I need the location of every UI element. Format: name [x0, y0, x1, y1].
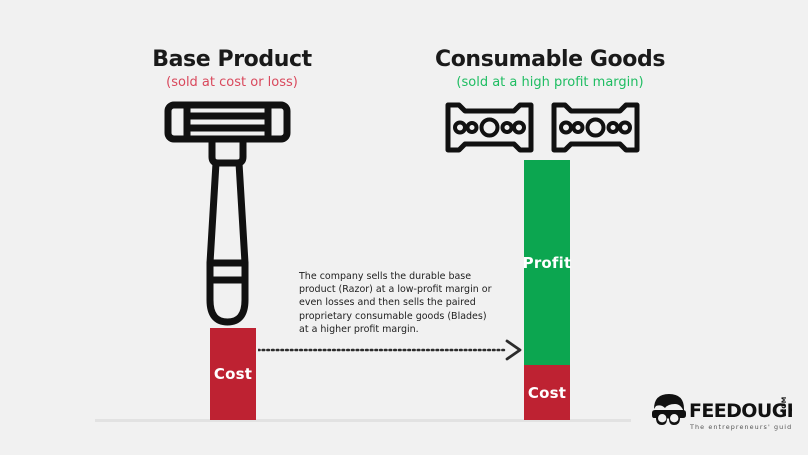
bar-label-cost: Cost: [214, 365, 252, 383]
left-column-header: Base Product (sold at cost or loss): [72, 47, 392, 92]
bar-consumable-profit: Profit: [524, 160, 570, 365]
bar-consumable-cost: Cost: [524, 365, 570, 420]
razor-blade-icon: [448, 105, 531, 150]
right-column-subtitle: (sold at a high profit margin): [390, 74, 710, 92]
feedough-logo[interactable]: FEEDOUGH .COM The entrepreneurs' guide: [650, 391, 792, 435]
bar-base-product-cost: Cost: [210, 328, 256, 420]
left-column-title: Base Product: [72, 47, 392, 73]
razor-blade-icon: [554, 105, 637, 150]
razor-blade-icon-group: [445, 100, 640, 155]
bar-label-profit: Profit: [523, 254, 572, 272]
bar-label-cost: Cost: [528, 384, 566, 402]
safety-razor-icon: [160, 100, 295, 330]
logo-domain: .COM: [780, 397, 788, 416]
face-with-glasses-icon: [652, 394, 686, 425]
right-column-header: Consumable Goods (sold at a high profit …: [390, 47, 710, 92]
left-column-subtitle: (sold at cost or loss): [72, 74, 392, 92]
description-text: The company sells the durable base produ…: [299, 270, 499, 336]
logo-tagline: The entrepreneurs' guide: [689, 423, 792, 431]
infographic-canvas: Base Product (sold at cost or loss) Cons…: [0, 0, 808, 455]
dotted-arrow-right-icon: [258, 338, 524, 362]
logo-wordmark: FEEDOUGH: [689, 400, 792, 422]
right-column-title: Consumable Goods: [390, 47, 710, 73]
